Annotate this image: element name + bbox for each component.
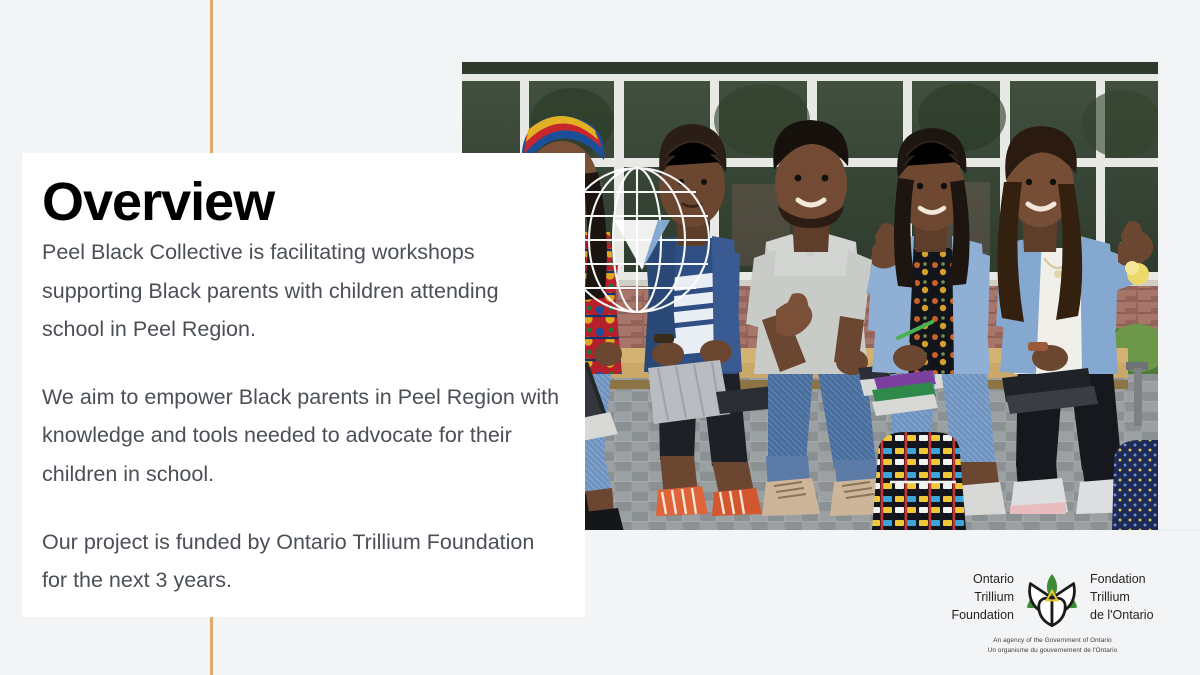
agency-note-english: An agency of the Government of Ontario xyxy=(930,636,1175,646)
overview-body: Peel Black Collective is facilitating wo… xyxy=(42,233,561,599)
horizontal-hairline-rule xyxy=(1158,529,1200,531)
logo-wordmark-english: Ontario Trillium Foundation xyxy=(951,571,1014,624)
logo-lockup: Ontario Trillium Foundation xyxy=(930,568,1175,628)
logo-en-line-3: Foundation xyxy=(951,607,1014,625)
logo-fr-line-3: de l'Ontario xyxy=(1090,607,1154,625)
overview-card: Overview Peel Black Collective is facili… xyxy=(22,153,585,617)
ontario-trillium-foundation-logo: Ontario Trillium Foundation xyxy=(930,568,1175,668)
trillium-flower-icon xyxy=(1021,568,1083,628)
logo-fr-line-2: Trillium xyxy=(1090,589,1154,607)
page-title: Overview xyxy=(42,173,561,231)
overview-paragraph-3: Our project is funded by Ontario Trilliu… xyxy=(42,523,561,600)
logo-wordmark-french: Fondation Trillium de l'Ontario xyxy=(1090,571,1154,624)
logo-agency-note: An agency of the Government of Ontario U… xyxy=(930,636,1175,657)
agency-note-french: Un organisme du gouvernement de l'Ontari… xyxy=(930,646,1175,656)
logo-fr-line-1: Fondation xyxy=(1090,571,1154,589)
slide-canvas: Overview Peel Black Collective is facili… xyxy=(0,0,1200,675)
overview-paragraph-2: We aim to empower Black parents in Peel … xyxy=(42,378,561,493)
overview-paragraph-1: Peel Black Collective is facilitating wo… xyxy=(42,233,561,348)
logo-en-line-1: Ontario xyxy=(951,571,1014,589)
logo-en-line-2: Trillium xyxy=(951,589,1014,607)
